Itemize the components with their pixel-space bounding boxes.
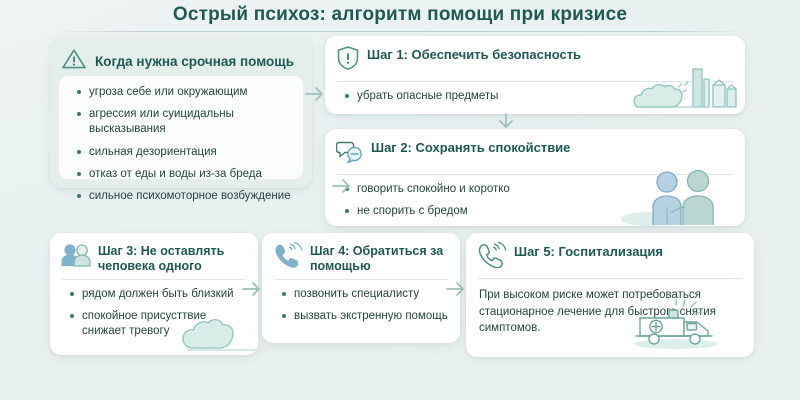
list-item: вызвать экстренную помощь: [282, 309, 448, 324]
arrow-step2-step3: [330, 175, 354, 202]
list-item: угроза себе или окружающим: [77, 85, 293, 100]
step-3-title: Шаг 3: Не оставлять чеповека одного: [98, 242, 246, 274]
step-5-title: Шаг 5: Госпитализация: [514, 242, 663, 259]
arrow-step3-step4: [240, 278, 264, 305]
step-2-title: Шаг 2: Сохранять спокойствие: [371, 138, 570, 155]
step-2-list: говорить спокойно и коротко не спорить с…: [325, 175, 745, 226]
step-2-header: Шаг 2: Сохранять спокойствие: [325, 129, 745, 174]
speech-bubbles-icon: [336, 138, 364, 169]
phone-call-icon: [477, 242, 507, 273]
arrow-warn-step1: [303, 83, 327, 110]
step-card-4: Шаг 4: Обратиться за помощью позвонить с…: [262, 233, 460, 343]
step-4-list: позвонить специалисту вызвать экстренную…: [262, 280, 460, 334]
step-card-5: Шаг 5: Госпитализация При высоком риске …: [466, 233, 754, 357]
step-3-header: Шаг 3: Не оставлять чеповека одного: [50, 233, 258, 279]
list-item: спокойное присусттвие снижает тревогу: [70, 309, 246, 339]
page-title: Острый психоз: алгоритм помощи при кризи…: [173, 4, 627, 26]
warning-list: угроза себе или окружающим агрессия или …: [59, 76, 303, 213]
step-3-list: рядом должен быть близкий спокойное прис…: [50, 280, 258, 350]
warning-panel-body: угроза себе или окружающим агрессия или …: [59, 76, 303, 179]
step-5-paragraph: При высоком риске может потребоваться ст…: [466, 279, 754, 347]
warning-panel: Когда нужна срочная помощь угроза себе и…: [50, 38, 312, 188]
step-5-header: Шаг 5: Госпитализация: [466, 233, 754, 278]
list-item: позвонить специалисту: [282, 287, 448, 302]
arrow-step4-step5: [444, 278, 468, 305]
list-item: сильная дезориентация: [77, 145, 293, 160]
step-1-list: убрать опасные предметы ограничить досту…: [325, 82, 745, 114]
title-bar: Острый психоз: алгоритм помощи при кризи…: [0, 0, 800, 30]
step-4-title: Шаг 4: Обратиться за помощью: [310, 242, 448, 274]
list-item: сильное психомоторное возбуждение: [77, 189, 293, 204]
list-item: рядом должен быть близкий: [70, 287, 246, 302]
list-item: отказ от еды и воды из-за бреда: [77, 167, 293, 182]
step-1-title: Шаг 1: Обеспечить безопасность: [367, 45, 581, 62]
warning-panel-title: Когда нужна срочная помощь: [95, 54, 294, 69]
step-card-2: Шаг 2: Сохранять спокойствие говорить сп…: [325, 129, 745, 226]
phone-call-icon: [273, 242, 303, 273]
shield-alert-icon: [336, 45, 360, 76]
list-item: говорить спокойно и коротко: [345, 182, 733, 197]
step-4-header: Шаг 4: Обратиться за помощью: [262, 233, 460, 279]
title-divider: [55, 31, 745, 32]
step-card-3: Шаг 3: Не оставлять чеповека одного рядо…: [50, 233, 258, 355]
list-item: убрать опасные предметы: [345, 89, 733, 104]
step-card-1: Шаг 1: Обеспечить безопасность убрать оп…: [325, 36, 745, 114]
two-persons-icon: [61, 242, 91, 273]
list-item: агрессия или суицидальны высказывания: [77, 107, 293, 137]
step-1-header: Шаг 1: Обеспечить безопасность: [325, 36, 745, 81]
list-item: ограничить доступ к окнам и лекарствам: [345, 111, 733, 114]
warning-triangle-icon: [61, 47, 87, 76]
list-item: не спорить с бредом: [345, 204, 733, 219]
